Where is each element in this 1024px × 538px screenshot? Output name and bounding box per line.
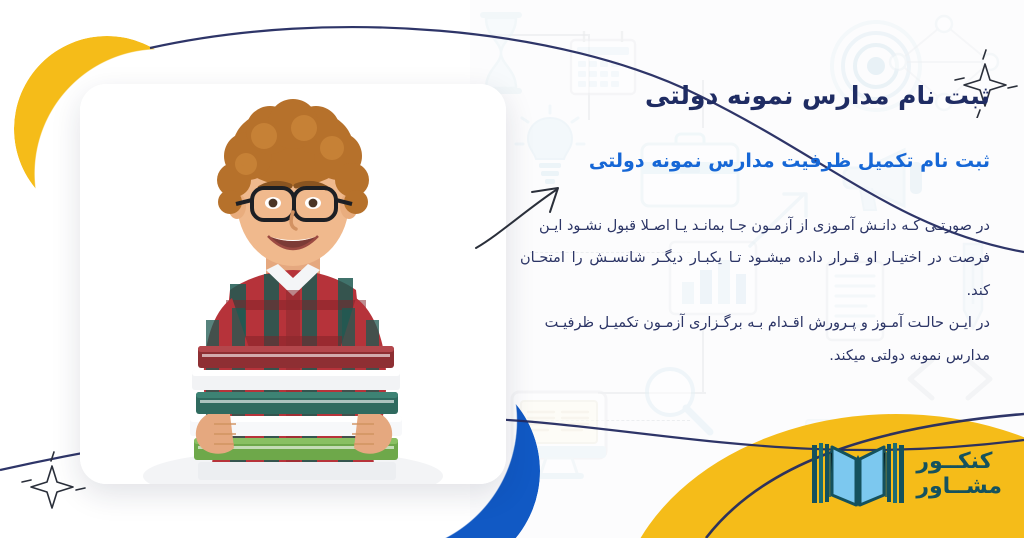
open-book-pencil-icon: [810, 435, 906, 515]
student-photo-card: [80, 84, 506, 484]
eyeglasses: [236, 188, 352, 220]
page-subtitle: ثبت نام تکمیل ظرفیت مدارس نمونه دولتی: [520, 147, 990, 176]
text-column: ثبت نام مدارس نمونه دولتی ثبت نام تکمیل …: [520, 78, 990, 373]
brand-logo[interactable]: کنکــور مشــاور: [786, 432, 1002, 518]
body-line: در ایـن حالـت آمـوز و پـرورش اقـدام بـه …: [520, 307, 990, 340]
magnifier-icon: [640, 362, 716, 438]
brand-logo-text: کنکــور مشــاور: [916, 450, 1002, 499]
stack-of-books: [190, 346, 402, 480]
page-title: ثبت نام مدارس نمونه دولتی: [520, 78, 990, 113]
body-line: مدارس نمونه دولتی میکند.: [520, 340, 990, 373]
brand-logo-line2: مشــاور: [916, 475, 1002, 500]
body-line: فرصت در اختیـار او قـرار داده میشـود تـا…: [520, 242, 990, 307]
student-photo: [80, 84, 506, 484]
sparkle-bottom-left-icon: [18, 448, 88, 520]
body-paragraph: در صورتـی کـه دانـش آمـوزی از آزمـون جـا…: [520, 210, 990, 373]
student-illustration: [80, 84, 506, 484]
body-line: در صورتـی کـه دانـش آمـوزی از آزمـون جـا…: [520, 210, 990, 243]
brand-logo-line1: کنکــور: [916, 450, 992, 475]
banner-root: ثبت نام مدارس نمونه دولتی ثبت نام تکمیل …: [0, 0, 1024, 538]
